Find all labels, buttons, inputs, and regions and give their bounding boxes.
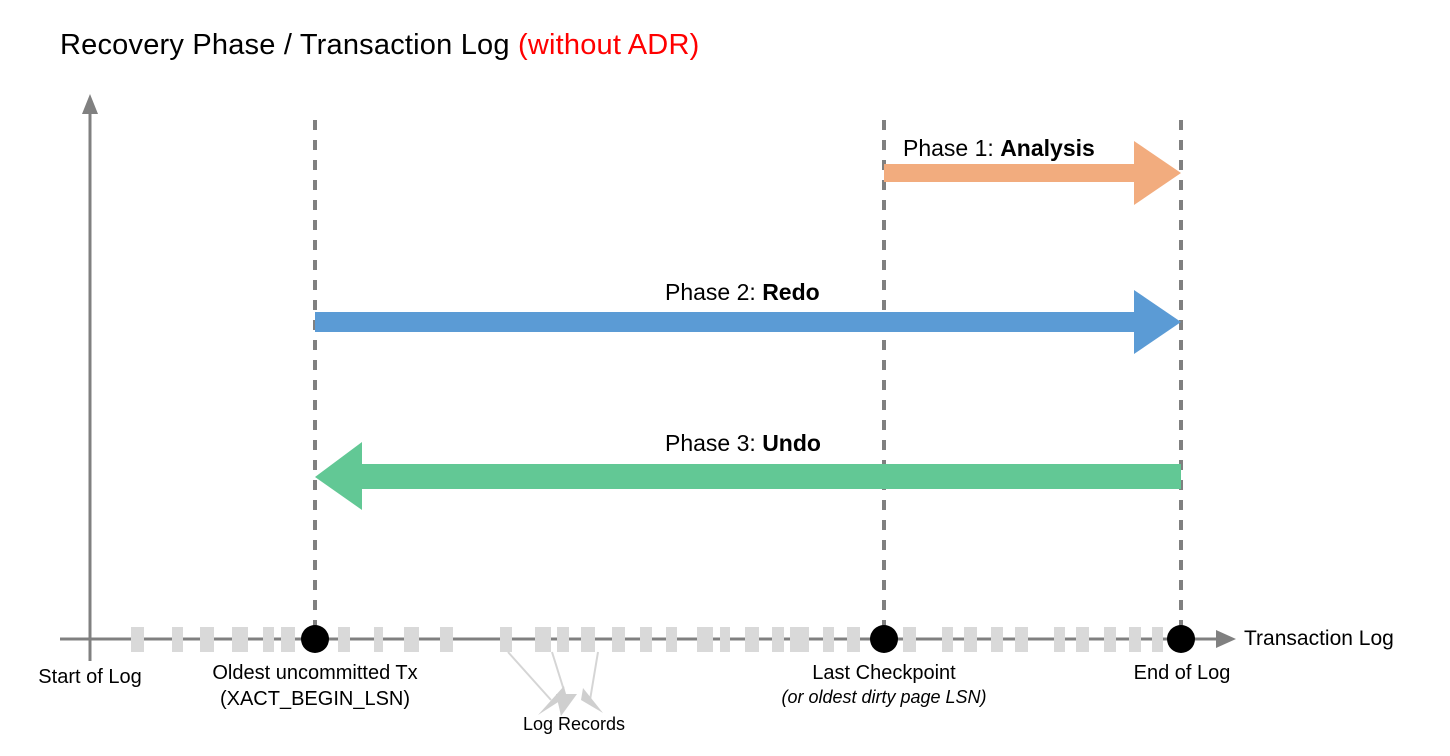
phase-2-label: Phase 2: Redo — [665, 279, 820, 306]
marker-label-last-checkpoint-main: Last Checkpoint — [812, 662, 955, 684]
marker-label-start-of-log: Start of Log — [0, 664, 180, 690]
marker-dot-end-of-log — [1167, 625, 1195, 653]
marker-label-oldest-uncommitted-tx-main: Oldest uncommitted Tx — [212, 662, 417, 684]
phase-2-label-prefix: Phase 2: — [665, 279, 762, 305]
guide-lines — [315, 120, 1181, 630]
diagram-canvas: Recovery Phase / Transaction Log (withou… — [0, 0, 1450, 756]
marker-label-oldest-uncommitted-tx-sub: (XACT_BEGIN_LSN) — [220, 688, 410, 710]
marker-label-last-checkpoint: Last Checkpoint (or oldest dirty page LS… — [772, 660, 996, 709]
phase-1-label-prefix: Phase 1: — [903, 135, 1000, 161]
marker-dot-oldest-tx — [301, 625, 329, 653]
marker-dot-last-checkpoint — [870, 625, 898, 653]
phase-1-label: Phase 1: Analysis — [903, 135, 1095, 162]
log-records-callout-label: Log Records — [523, 714, 625, 735]
log-records-callout-arrows — [508, 652, 603, 716]
diagram-artwork — [0, 0, 1450, 756]
phase-2-label-name: Redo — [762, 279, 820, 305]
vertical-axis — [82, 94, 98, 661]
phase-3-label-prefix: Phase 3: — [665, 430, 762, 456]
phase-3-label: Phase 3: Undo — [665, 430, 821, 457]
phase-1-label-name: Analysis — [1000, 135, 1095, 161]
marker-label-last-checkpoint-sub: (or oldest dirty page LSN) — [772, 686, 996, 709]
marker-label-oldest-uncommitted-tx: Oldest uncommitted Tx (XACT_BEGIN_LSN) — [181, 660, 449, 712]
x-axis-label: Transaction Log — [1244, 627, 1394, 651]
marker-label-end-of-log: End of Log — [1092, 660, 1272, 686]
phase-3-label-name: Undo — [762, 430, 821, 456]
